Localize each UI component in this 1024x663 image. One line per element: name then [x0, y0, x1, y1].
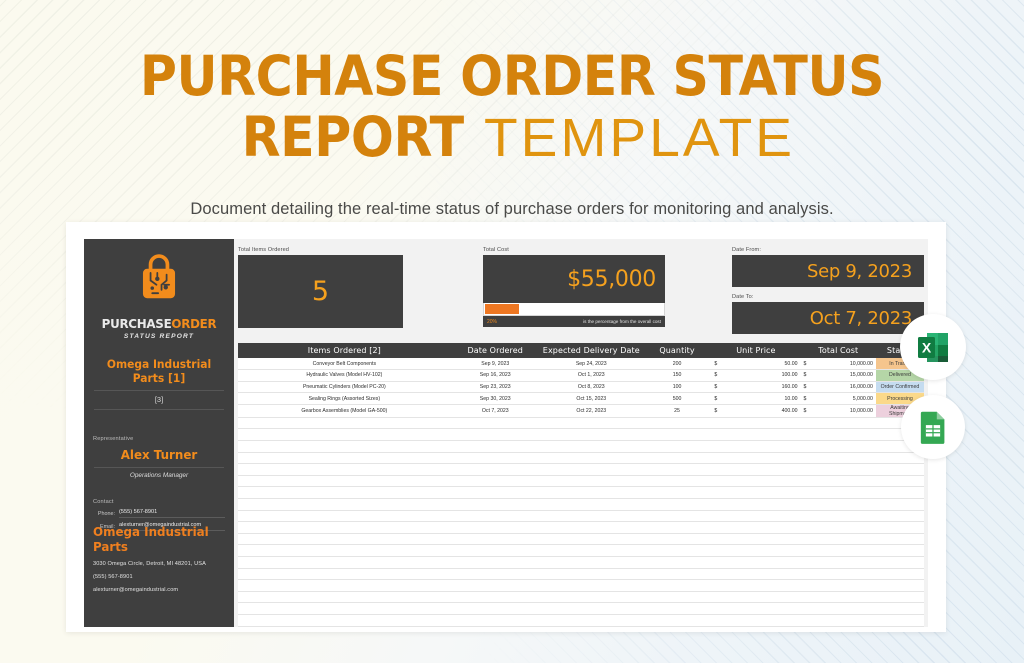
- contact-key-phone: Phone:: [93, 511, 119, 518]
- page-title-template: TEMPLATE: [484, 107, 795, 169]
- representative-name: Alex Turner: [88, 447, 231, 462]
- table-row-empty[interactable]: [238, 475, 924, 487]
- sidebar-company-subtitle: [3]: [84, 395, 234, 404]
- table-row[interactable]: Gearbox Assemblies (Model GA-500)Oct 7, …: [238, 404, 924, 417]
- card-total-cost: Total Cost $55,000 20% is the percentage…: [483, 247, 665, 327]
- total-cost-value: 10,000.00: [803, 408, 872, 414]
- total-cost-value: 5,000.00: [803, 396, 872, 402]
- address-phone: (555) 567-8901: [93, 574, 225, 580]
- cost-progress-note: is the percentage from the overall cost: [583, 319, 661, 324]
- card-label-date-from: Date From:: [732, 247, 924, 253]
- cell-quantity: 25: [643, 404, 712, 417]
- card-body-date-to: Oct 7, 2023: [732, 302, 924, 334]
- page-title-line2: REPORT TEMPLATE: [0, 106, 1024, 183]
- status-badge: Order Confirmed: [876, 381, 924, 393]
- currency-symbol: $: [714, 384, 717, 390]
- th-date-ordered: Date Ordered: [451, 343, 540, 358]
- microsoft-excel-icon: X: [913, 327, 953, 367]
- divider-company-2: [94, 409, 224, 410]
- cell-quantity: 200: [643, 358, 712, 370]
- orders-table: Items Ordered [2] Date Ordered Expected …: [238, 343, 924, 627]
- th-total-cost: Total Cost: [800, 343, 875, 358]
- card-total-items-ordered: Total Items Ordered 5: [238, 247, 403, 328]
- card-body-total-cost: $55,000: [483, 255, 665, 303]
- google-sheets-badge[interactable]: [901, 395, 965, 459]
- table-row-empty[interactable]: [238, 591, 924, 603]
- currency-symbol: $: [803, 384, 806, 390]
- cell-date-ordered: Sep 30, 2023: [451, 393, 540, 405]
- page-title-report: REPORT: [242, 106, 464, 168]
- representative-label: Representative: [93, 436, 234, 442]
- page-header: PURCHASE ORDER STATUS REPORT TEMPLATE Do…: [0, 46, 1024, 219]
- date-card-gap: [732, 287, 924, 294]
- unit-price-value: 160.00: [714, 384, 797, 390]
- th-unit-price: Unit Price: [711, 343, 800, 358]
- representative-block: Representative Alex Turner Operations Ma…: [84, 436, 234, 479]
- page-title-line1: PURCHASE ORDER STATUS: [41, 46, 983, 106]
- divider-company: [94, 390, 224, 391]
- page-subtitle: Document detailing the real-time status …: [0, 200, 1024, 219]
- total-cost-value: 16,000.00: [803, 384, 872, 390]
- cost-progress-percent: 20%: [487, 319, 497, 325]
- address-email: alexturner@omegaindustrial.com: [93, 587, 225, 593]
- table-row-empty[interactable]: [238, 533, 924, 545]
- cell-total-cost: $10,000.00: [800, 404, 875, 417]
- card-date-range: Date From: Sep 9, 2023 Date To: Oct 7, 2…: [732, 247, 924, 334]
- cell-item: Gearbox Assemblies (Model GA-500): [238, 404, 451, 417]
- svg-text:X: X: [922, 340, 932, 356]
- currency-symbol: $: [714, 361, 717, 367]
- google-sheets-icon: [914, 408, 952, 446]
- cell-expected-delivery: Oct 1, 2023: [540, 370, 643, 382]
- logo-word-purchase: PURCHASE: [102, 316, 172, 331]
- microsoft-excel-badge[interactable]: X: [900, 314, 966, 380]
- cell-quantity: 500: [643, 393, 712, 405]
- table-row-empty[interactable]: [238, 557, 924, 569]
- card-label-date-to: Date To:: [732, 294, 924, 300]
- currency-symbol: $: [714, 396, 717, 402]
- currency-symbol: $: [803, 408, 806, 414]
- table-row-empty[interactable]: [238, 441, 924, 453]
- orders-table-wrapper: Items Ordered [2] Date Ordered Expected …: [238, 343, 924, 621]
- cost-progress-fill: [485, 304, 519, 314]
- sidebar-company-title: Omega Industrial Parts [1]: [99, 357, 220, 385]
- unit-price-value: 100.00: [714, 372, 797, 378]
- cell-expected-delivery: Oct 22, 2023: [540, 404, 643, 417]
- document-card: PURCHASEORDER STATUS REPORT Omega Indust…: [66, 222, 946, 632]
- cell-unit-price: $50.00: [711, 358, 800, 370]
- table-row-empty[interactable]: [238, 499, 924, 511]
- cell-total-cost: $10,000.00: [800, 358, 875, 370]
- table-row[interactable]: Pneumatic Cylinders (Model PC-20)Sep 23,…: [238, 381, 924, 393]
- currency-symbol: $: [803, 361, 806, 367]
- currency-symbol: $: [803, 396, 806, 402]
- representative-role: Operations Manager: [84, 472, 234, 479]
- cell-date-ordered: Sep 23, 2023: [451, 381, 540, 393]
- table-row-empty[interactable]: [238, 487, 924, 499]
- cell-item: Hydraulic Valves (Model HV-102): [238, 370, 451, 382]
- table-row[interactable]: Hydraulic Valves (Model HV-102)Sep 16, 2…: [238, 370, 924, 382]
- cell-date-ordered: Oct 7, 2023: [451, 404, 540, 417]
- cell-quantity: 150: [643, 370, 712, 382]
- currency-symbol: $: [803, 372, 806, 378]
- table-row-empty[interactable]: [238, 464, 924, 476]
- address-street: 3030 Omega Circle, Detroit, MI 48201, US…: [93, 561, 225, 567]
- th-items-ordered: Items Ordered [2]: [238, 343, 451, 358]
- cell-expected-delivery: Oct 8, 2023: [540, 381, 643, 393]
- cell-total-cost: $16,000.00: [800, 381, 875, 393]
- orders-table-head: Items Ordered [2] Date Ordered Expected …: [238, 343, 924, 358]
- table-row-empty[interactable]: [238, 568, 924, 580]
- total-cost-value: 10,000.00: [803, 361, 872, 367]
- unit-price-value: 400.00: [714, 408, 797, 414]
- currency-symbol: $: [714, 408, 717, 414]
- unit-price-value: 50.00: [714, 361, 797, 367]
- card-body-date-from: Sep 9, 2023: [732, 255, 924, 287]
- table-header-row: Items Ordered [2] Date Ordered Expected …: [238, 343, 924, 358]
- divider-representative: [94, 467, 224, 468]
- status-label: Processing: [887, 396, 913, 402]
- contact-row-phone: Phone: (555) 567-8901: [93, 509, 225, 518]
- cell-unit-price: $400.00: [711, 404, 800, 417]
- orders-table-body: Conveyor Belt ComponentsSep 9, 2023Sep 2…: [238, 358, 924, 626]
- cell-total-cost: $5,000.00: [800, 393, 875, 405]
- cell-unit-price: $160.00: [711, 381, 800, 393]
- sheet-main-area: Total Items Ordered 5 Total Cost $55,000…: [234, 239, 928, 627]
- brand-logo: PURCHASEORDER STATUS REPORT: [84, 239, 234, 340]
- cell-date-ordered: Sep 9, 2023: [451, 358, 540, 370]
- cell-item: Sealing Rings (Assorted Sizes): [238, 393, 451, 405]
- total-items-value: 5: [312, 276, 329, 307]
- date-to-value: Oct 7, 2023: [810, 308, 912, 329]
- card-label-total-cost: Total Cost: [483, 247, 665, 253]
- table-row-empty[interactable]: [238, 429, 924, 441]
- summary-cards: Total Items Ordered 5 Total Cost $55,000…: [238, 247, 924, 337]
- cell-item: Conveyor Belt Components: [238, 358, 451, 370]
- contact-value-phone: (555) 567-8901: [119, 509, 225, 518]
- table-row[interactable]: Conveyor Belt ComponentsSep 9, 2023Sep 2…: [238, 358, 924, 370]
- table-row-empty[interactable]: [238, 603, 924, 615]
- table-row-empty[interactable]: [238, 510, 924, 522]
- table-row-empty[interactable]: [238, 417, 924, 429]
- contact-label: Contact: [93, 499, 234, 505]
- spreadsheet-canvas: PURCHASEORDER STATUS REPORT Omega Indust…: [84, 239, 928, 627]
- address-company-name: Omega Industrial Parts: [93, 524, 218, 554]
- cell-unit-price: $10.00: [711, 393, 800, 405]
- th-expected-delivery: Expected Delivery Date: [540, 343, 643, 358]
- date-from-value: Sep 9, 2023: [807, 261, 912, 282]
- table-row-empty[interactable]: [238, 452, 924, 464]
- cell-expected-delivery: Sep 24, 2023: [540, 358, 643, 370]
- unit-price-value: 10.00: [714, 396, 797, 402]
- total-cost-value: $55,000: [567, 267, 656, 292]
- table-row-empty[interactable]: [238, 614, 924, 626]
- status-label: Delivered: [889, 372, 911, 378]
- th-quantity: Quantity: [643, 343, 712, 358]
- cell-item: Pneumatic Cylinders (Model PC-20): [238, 381, 451, 393]
- cost-progress-bar: [483, 303, 665, 316]
- card-label-items: Total Items Ordered: [238, 247, 403, 253]
- cell-unit-price: $100.00: [711, 370, 800, 382]
- table-row-empty[interactable]: [238, 545, 924, 557]
- currency-symbol: $: [714, 372, 717, 378]
- cell-expected-delivery: Oct 15, 2023: [540, 393, 643, 405]
- total-cost-value: 15,000.00: [803, 372, 872, 378]
- cell-date-ordered: Sep 16, 2023: [451, 370, 540, 382]
- card-body-items: 5: [238, 255, 403, 328]
- table-row-empty[interactable]: [238, 522, 924, 534]
- logo-subtitle: STATUS REPORT: [84, 333, 234, 340]
- cost-progress-footer: 20% is the percentage from the overall c…: [483, 316, 665, 327]
- logo-wordmark: PURCHASEORDER: [88, 316, 231, 331]
- logo-word-order: ORDER: [171, 316, 216, 331]
- status-label: Order Confirmed: [881, 384, 920, 390]
- table-row[interactable]: Sealing Rings (Assorted Sizes)Sep 30, 20…: [238, 393, 924, 405]
- cell-quantity: 100: [643, 381, 712, 393]
- table-row-empty[interactable]: [238, 580, 924, 592]
- document-sidebar: PURCHASEORDER STATUS REPORT Omega Indust…: [84, 239, 234, 627]
- address-block: Omega Industrial Parts 3030 Omega Circle…: [93, 524, 225, 593]
- shopping-bag-circuit-icon: [132, 251, 186, 305]
- cell-total-cost: $15,000.00: [800, 370, 875, 382]
